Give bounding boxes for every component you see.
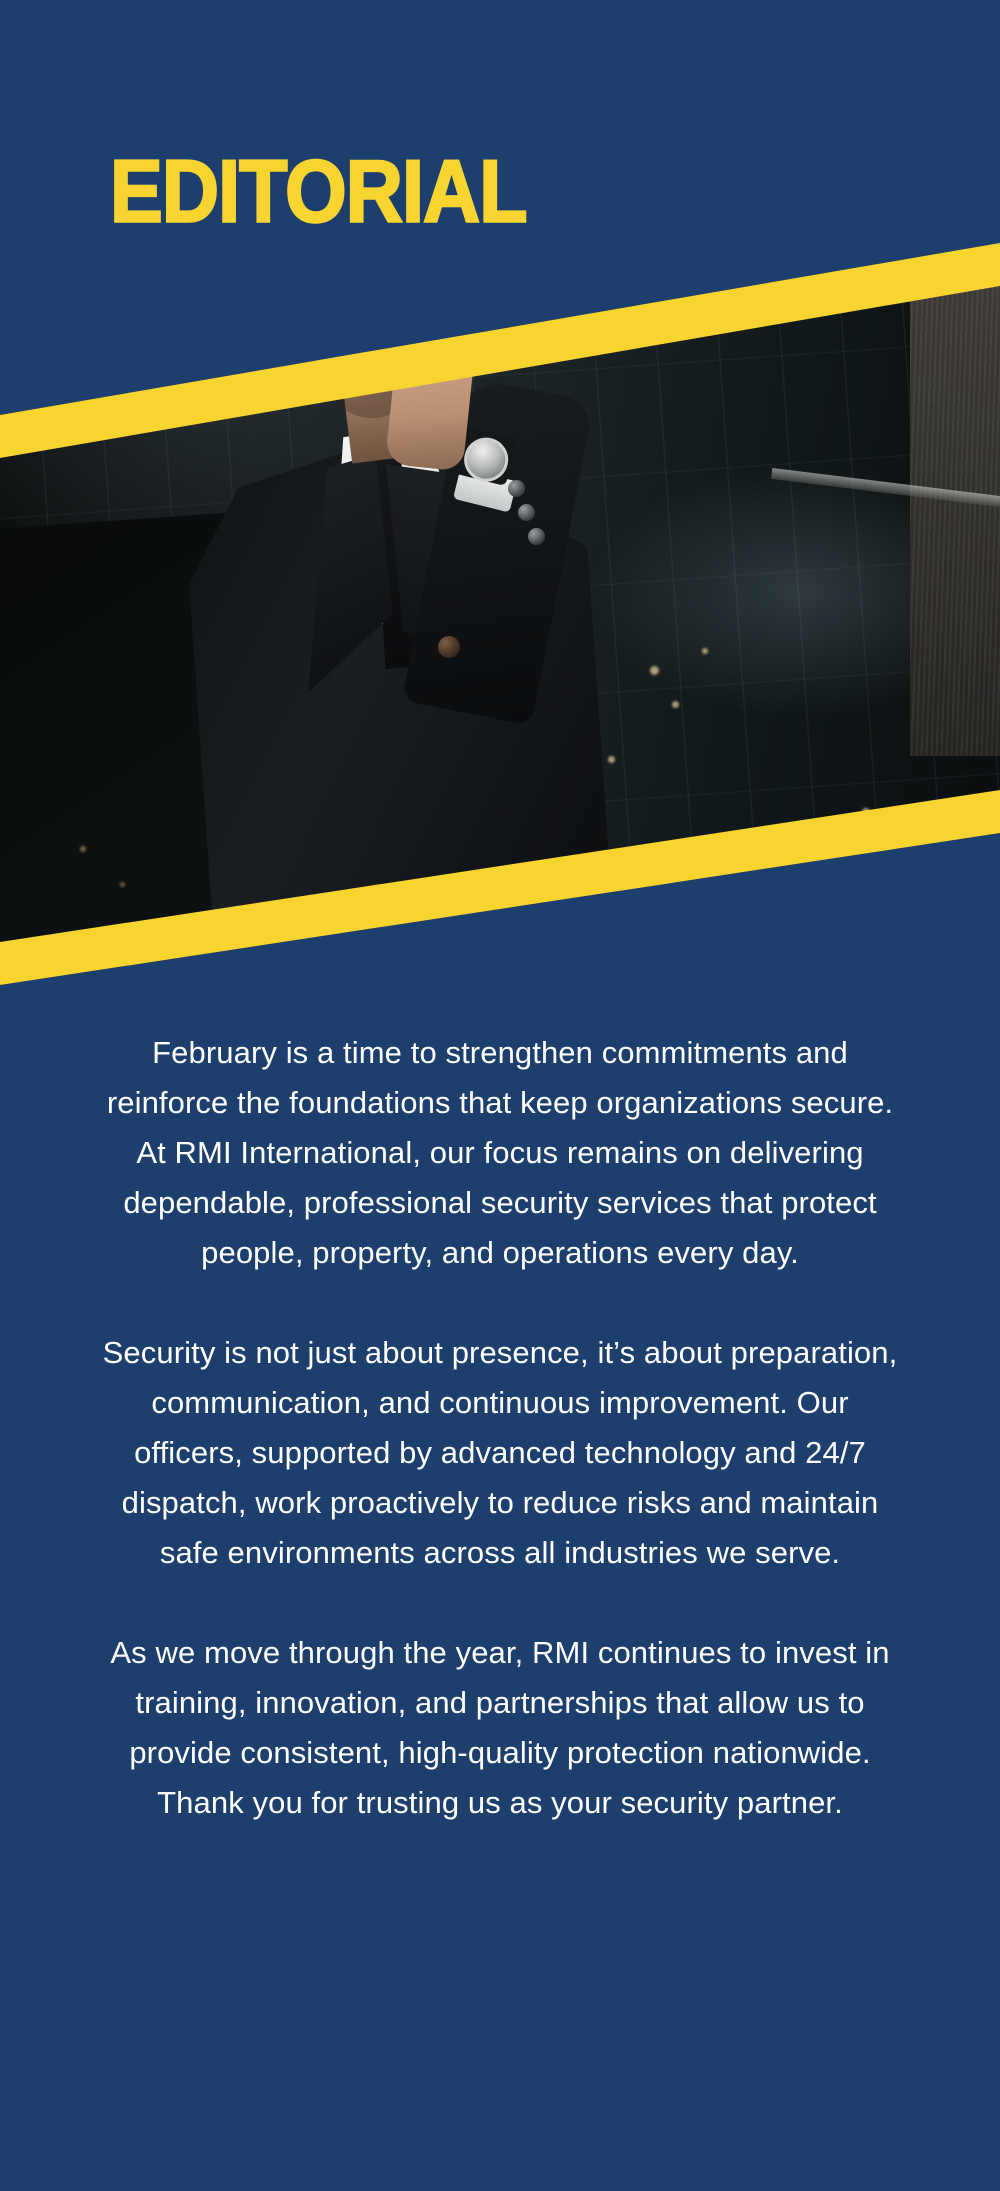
officer-jacket-button <box>438 636 460 658</box>
paragraph-2: Security is not just about presence, it’… <box>100 1328 900 1578</box>
editorial-page: EDITORIAL <box>0 0 1000 2191</box>
paragraph-1: February is a time to strengthen commitm… <box>100 1028 900 1278</box>
page-title: EDITORIAL <box>110 148 527 236</box>
editorial-body: February is a time to strengthen commitm… <box>100 1028 900 1828</box>
officer-sleeve-button <box>518 504 535 521</box>
officer-sleeve-button <box>528 528 545 545</box>
paragraph-3: As we move through the year, RMI continu… <box>100 1628 900 1828</box>
header: EDITORIAL <box>0 0 1000 250</box>
officer-sleeve-button <box>508 480 525 497</box>
